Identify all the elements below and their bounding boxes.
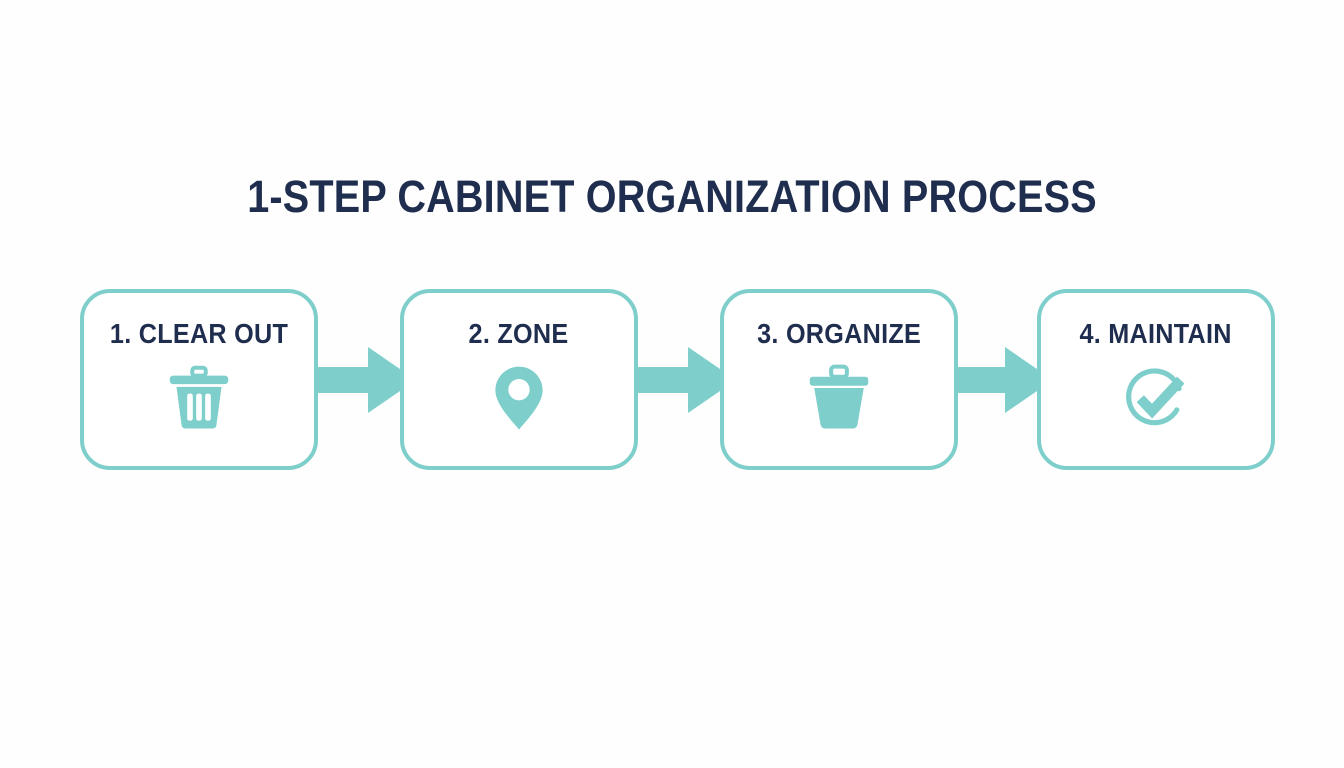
process-steps-row: 1. CLEAR OUT 2. ZONE 3. ORGANIZE [80, 289, 1275, 470]
check-circle-icon [1120, 361, 1192, 433]
trash-can-icon [163, 361, 235, 433]
step-label: 1. CLEAR OUT [110, 319, 288, 349]
process-step-organize[interactable]: 3. ORGANIZE [720, 289, 958, 470]
map-pin-icon [483, 361, 555, 433]
step-label: 4. MAINTAIN [1080, 319, 1232, 349]
page-title: 1-STEP CABINET ORGANIZATION PROCESS [81, 172, 1264, 222]
process-step-maintain[interactable]: 4. MAINTAIN [1037, 289, 1275, 470]
step-label: 2. ZONE [469, 319, 569, 349]
step-label: 3. ORGANIZE [757, 319, 921, 349]
process-step-zone[interactable]: 2. ZONE [400, 289, 638, 470]
infographic-canvas: 1-STEP CABINET ORGANIZATION PROCESS 1. C… [0, 0, 1344, 768]
storage-bin-icon [803, 361, 875, 433]
process-step-clear-out[interactable]: 1. CLEAR OUT [80, 289, 318, 470]
